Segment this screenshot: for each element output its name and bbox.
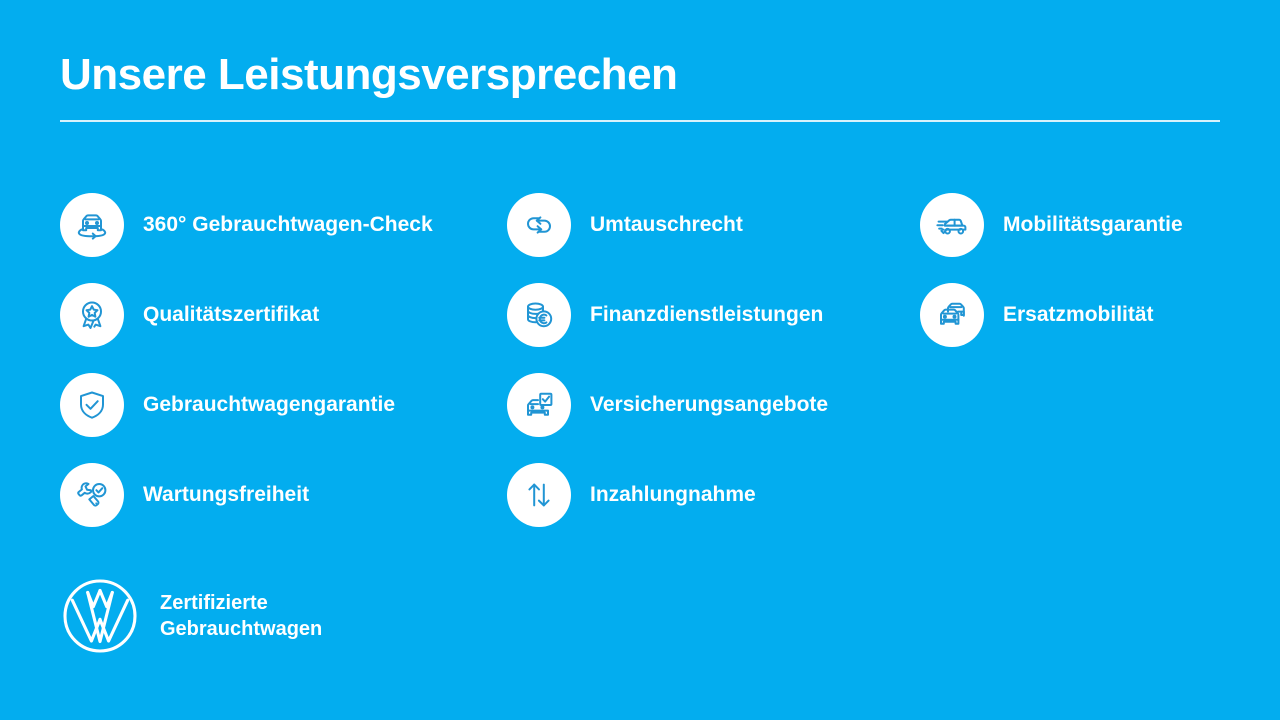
benefit-label: Wartungsfreiheit bbox=[143, 482, 309, 508]
brand-line-1: Zertifizierte bbox=[160, 590, 322, 616]
benefit-label: Umtauschrecht bbox=[590, 212, 743, 238]
exchange-arrows-icon bbox=[507, 193, 571, 257]
benefit-item-quality-certificate[interactable]: Qualitätszertifikat bbox=[60, 270, 500, 360]
car-360-check-icon bbox=[60, 193, 124, 257]
shield-check-icon bbox=[60, 373, 124, 437]
brand-lockup: Zertifizierte Gebrauchtwagen bbox=[62, 578, 322, 654]
benefit-item-360-check[interactable]: 360° Gebrauchtwagen-Check bbox=[60, 180, 500, 270]
brand-text: Zertifizierte Gebrauchtwagen bbox=[160, 590, 322, 642]
benefit-label: 360° Gebrauchtwagen-Check bbox=[143, 212, 433, 238]
wrench-check-icon bbox=[60, 463, 124, 527]
benefit-item-exchange-right[interactable]: Umtauschrecht bbox=[507, 180, 877, 270]
benefit-item-maintenance-free[interactable]: Wartungsfreiheit bbox=[60, 450, 500, 540]
benefit-item-trade-in[interactable]: Inzahlungnahme bbox=[507, 450, 877, 540]
up-down-arrows-icon bbox=[507, 463, 571, 527]
benefit-label: Ersatzmobilität bbox=[1003, 302, 1154, 328]
benefit-item-mobility-guarantee[interactable]: Mobilitätsgarantie bbox=[920, 180, 1280, 270]
benefit-label: Inzahlungnahme bbox=[590, 482, 756, 508]
benefit-label: Mobilitätsgarantie bbox=[1003, 212, 1183, 238]
benefits-column-3: Mobilitätsgarantie Ersatzmobilitä bbox=[920, 180, 1280, 360]
benefits-column-1: 360° Gebrauchtwagen-Check Qualitätszerti… bbox=[60, 180, 500, 540]
volkswagen-logo-icon bbox=[62, 578, 138, 654]
award-rosette-icon bbox=[60, 283, 124, 347]
benefit-item-used-car-warranty[interactable]: Gebrauchtwagengarantie bbox=[60, 360, 500, 450]
car-checkbox-icon bbox=[507, 373, 571, 437]
car-speed-lines-icon bbox=[920, 193, 984, 257]
benefit-item-replacement-mobility[interactable]: Ersatzmobilität bbox=[920, 270, 1280, 360]
header: Unsere Leistungsversprechen bbox=[60, 46, 1220, 122]
coins-euro-icon bbox=[507, 283, 571, 347]
promise-slide: Unsere Leistungsversprechen bbox=[0, 0, 1280, 720]
brand-line-2: Gebrauchtwagen bbox=[160, 616, 322, 642]
benefit-label: Qualitätszertifikat bbox=[143, 302, 319, 328]
benefit-item-financial-services[interactable]: Finanzdienstleistungen bbox=[507, 270, 877, 360]
benefit-label: Versicherungsangebote bbox=[590, 392, 828, 418]
benefit-item-insurance-offers[interactable]: Versicherungsangebote bbox=[507, 360, 877, 450]
two-cars-icon bbox=[920, 283, 984, 347]
benefit-label: Finanzdienstleistungen bbox=[590, 302, 823, 328]
title-divider bbox=[60, 120, 1220, 122]
benefits-column-2: Umtauschrecht Finanz bbox=[507, 180, 877, 540]
page-title: Unsere Leistungsversprechen bbox=[60, 46, 1220, 104]
benefit-label: Gebrauchtwagengarantie bbox=[143, 392, 395, 418]
